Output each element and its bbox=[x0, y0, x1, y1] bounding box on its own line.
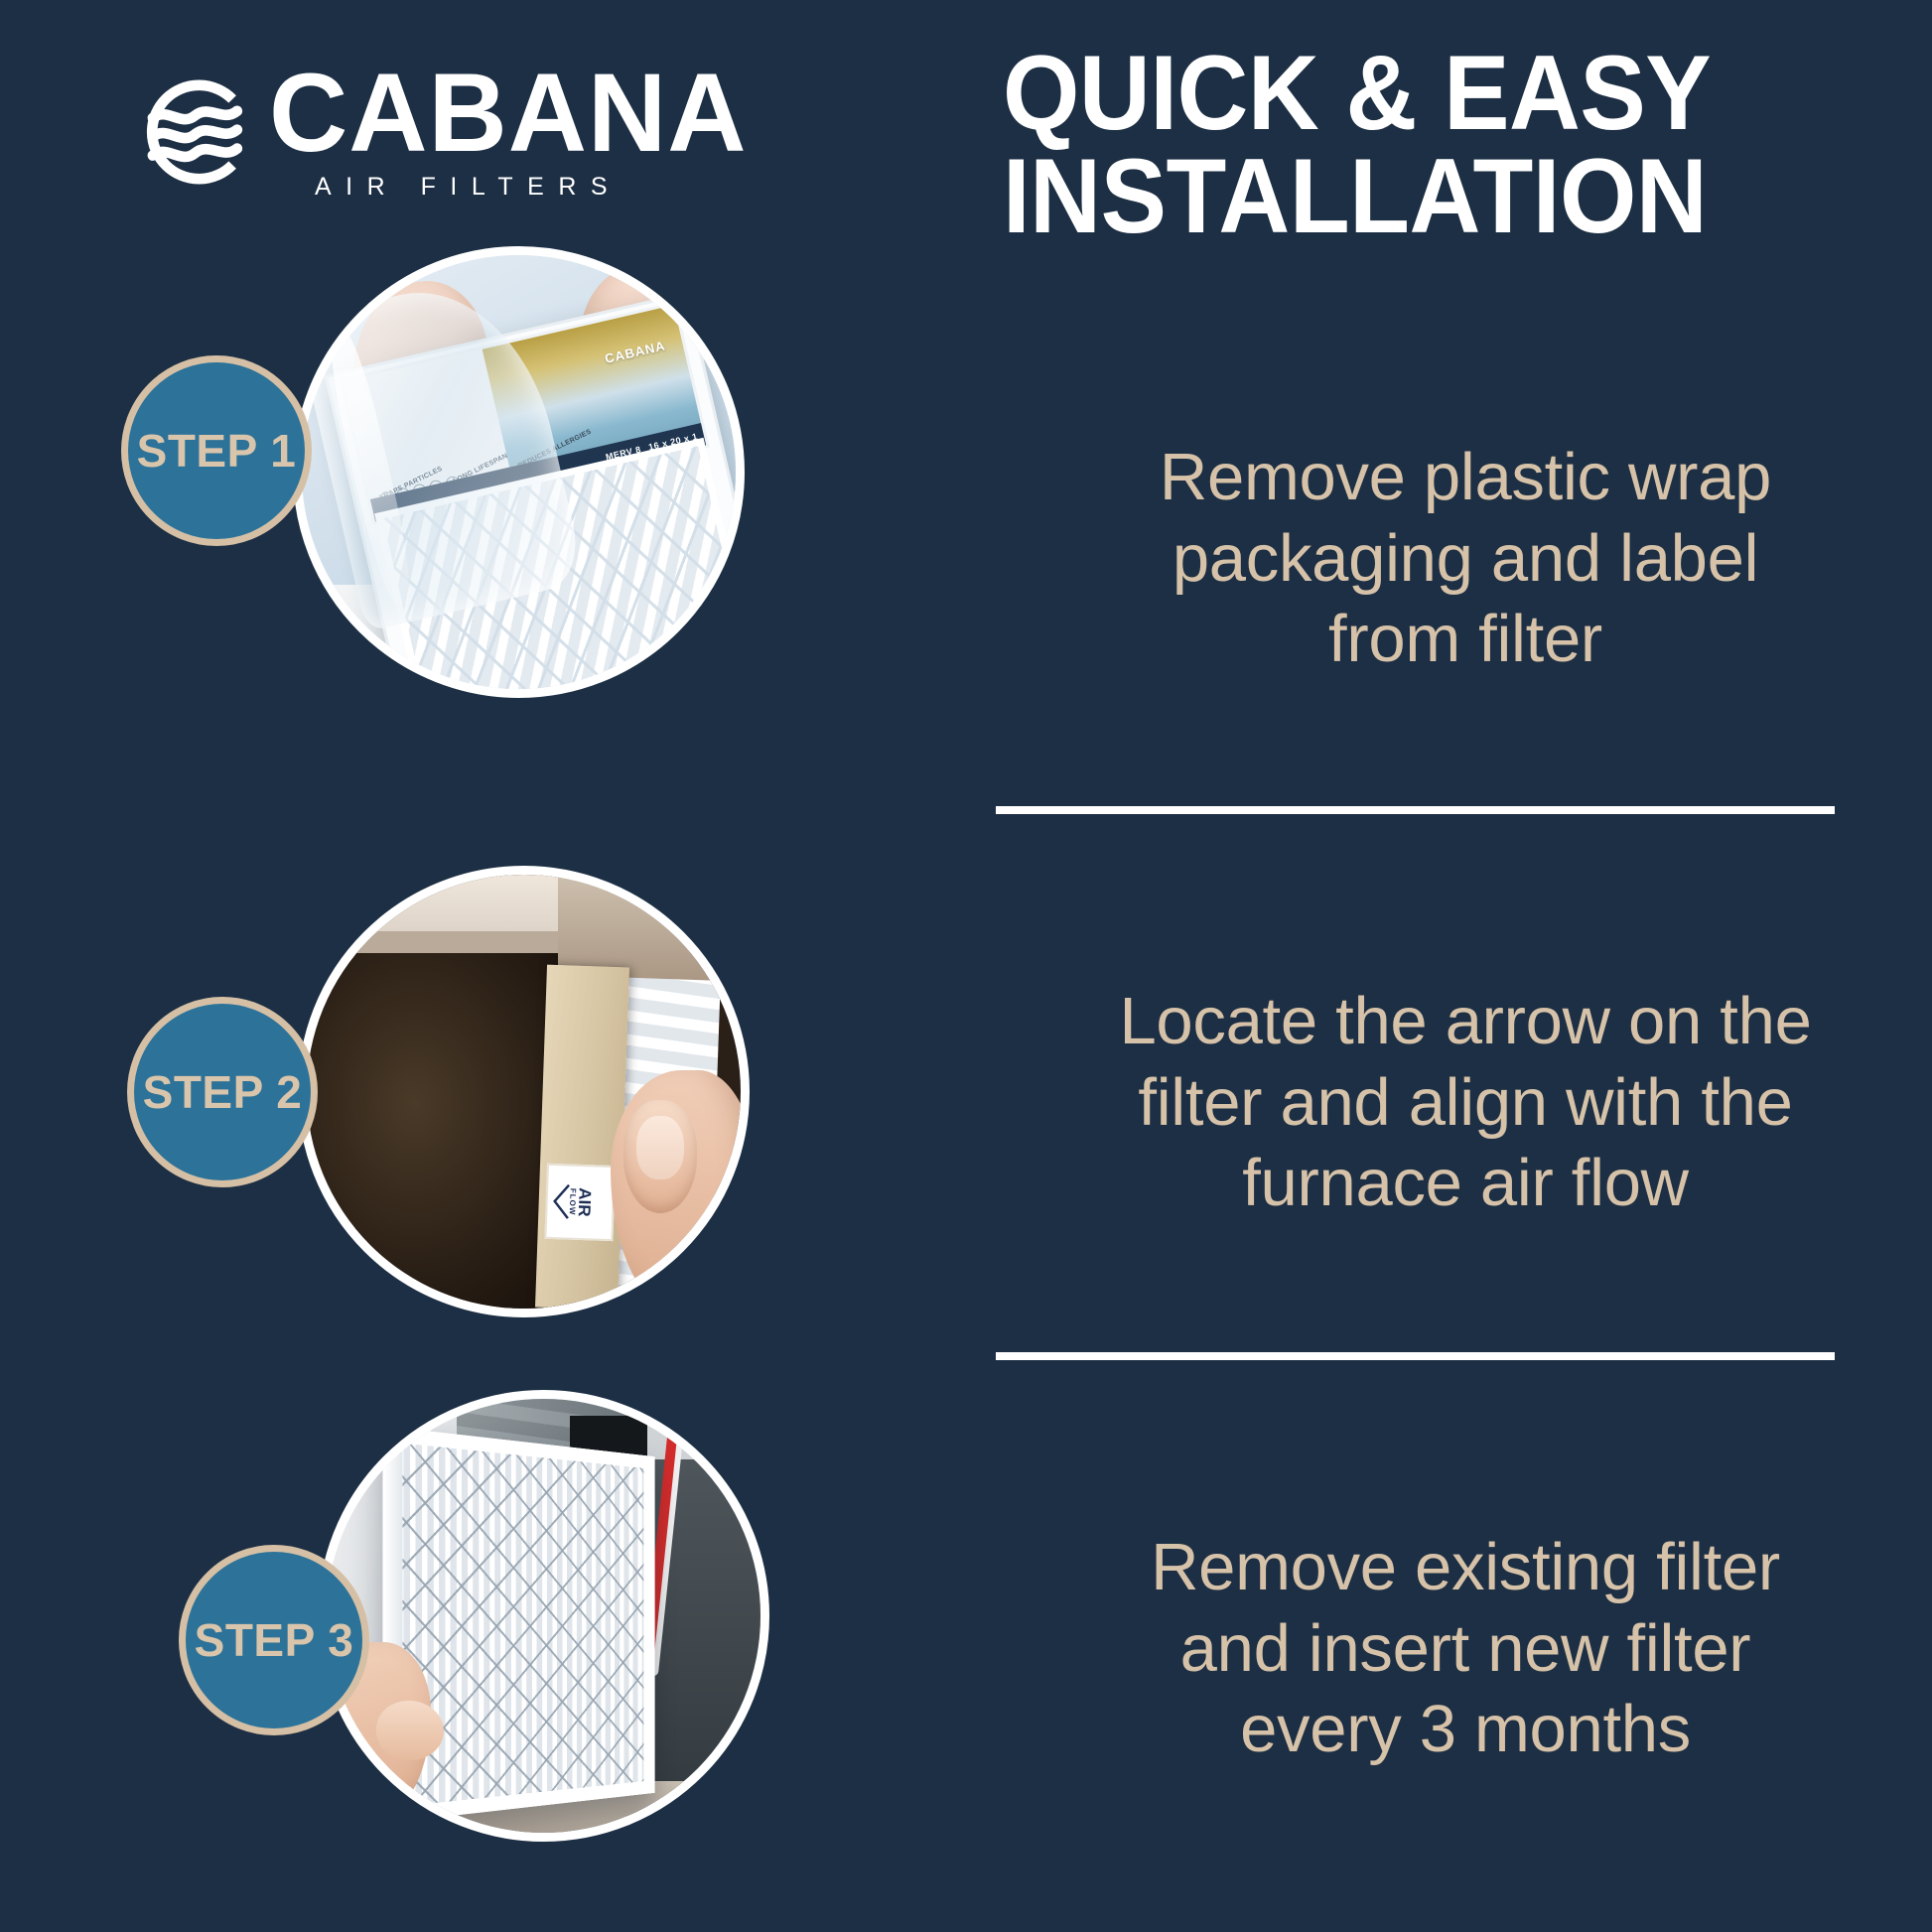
step-3-badge: STEP 3 bbox=[179, 1545, 369, 1735]
caption-line: every 3 months bbox=[993, 1689, 1932, 1770]
step-2-caption: Locate the arrow on the filter and align… bbox=[993, 981, 1932, 1224]
step-3-badge-label: STEP 3 bbox=[195, 1613, 354, 1667]
caption-line: Remove existing filter bbox=[993, 1527, 1932, 1608]
caption-line: and insert new filter bbox=[993, 1608, 1932, 1690]
air-flow-flow: FLOW bbox=[568, 1187, 577, 1217]
caption-line: filter and align with the bbox=[993, 1062, 1932, 1144]
divider-between-step2-step3 bbox=[996, 1352, 1835, 1360]
caption-line: from filter bbox=[993, 599, 1932, 680]
air-flow-air: AIR bbox=[575, 1187, 595, 1217]
air-flow-label: AIR FLOW bbox=[544, 1164, 616, 1241]
step-1-caption: Remove plastic wrap packaging and label … bbox=[993, 437, 1932, 680]
step-1-badge: STEP 1 bbox=[121, 355, 312, 546]
page-title-line1: QUICK & EASY bbox=[1003, 33, 1711, 152]
step-2-badge: STEP 2 bbox=[127, 997, 318, 1187]
page-title: QUICK & EASY INSTALLATION bbox=[1003, 42, 1853, 248]
step-3-caption: Remove existing filter and insert new fi… bbox=[993, 1527, 1932, 1770]
divider-between-step1-step2 bbox=[996, 806, 1835, 814]
step-1-badge-label: STEP 1 bbox=[137, 424, 297, 478]
step-2-badge-label: STEP 2 bbox=[143, 1065, 303, 1119]
header: CABANA AIR FILTERS QUICK & EASY INSTALLA… bbox=[0, 0, 1932, 298]
caption-line: packaging and label bbox=[993, 518, 1932, 600]
caption-line: Remove plastic wrap bbox=[993, 437, 1932, 518]
brand-name: CABANA bbox=[269, 62, 747, 164]
caption-line: furnace air flow bbox=[993, 1143, 1932, 1224]
step-3-photo bbox=[318, 1390, 769, 1842]
cabana-wave-logo-icon bbox=[134, 73, 251, 191]
step-1-photo: CABANA TRAPS PARTICLES LONG LIFESPAN RED… bbox=[293, 246, 745, 698]
caption-line: Locate the arrow on the bbox=[993, 981, 1932, 1062]
brand-wordmark: CABANA AIR FILTERS bbox=[269, 62, 757, 202]
brand-tagline: AIR FILTERS bbox=[315, 173, 757, 202]
brand-logo: CABANA AIR FILTERS bbox=[134, 62, 757, 202]
page-title-line2: INSTALLATION bbox=[1003, 145, 1853, 248]
step-2-photo: AIR FLOW bbox=[298, 866, 750, 1317]
